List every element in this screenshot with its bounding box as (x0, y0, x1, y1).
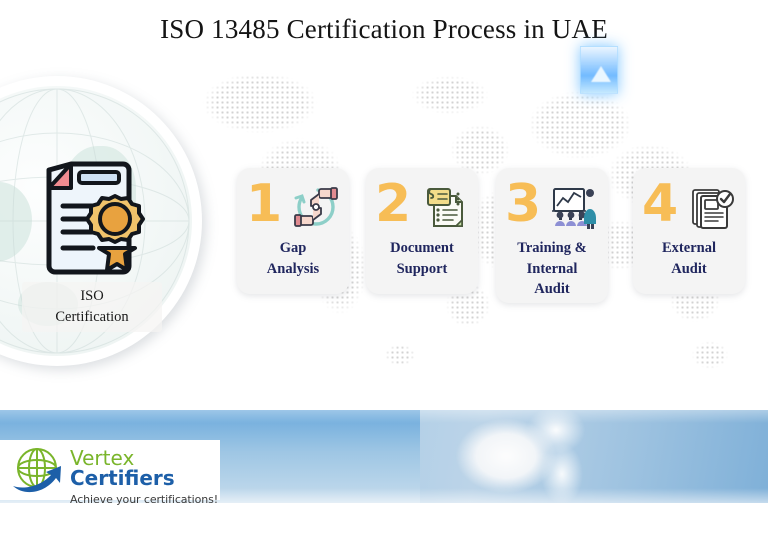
process-step-card-4[interactable]: 4 External Audit (633, 168, 745, 294)
logo-text-block: Vertex Certifiers Achieve your certifica… (70, 448, 220, 506)
step-4-head: 4 (633, 178, 745, 236)
iso-label-line2: Certification (55, 307, 128, 328)
step-2-head: 2 (366, 178, 478, 236)
documents-check-icon (689, 184, 735, 230)
logo-tagline: Achieve your certifications! (70, 493, 220, 506)
page-title: ISO 13485 Certification Process in UAE (0, 14, 768, 45)
certificate-seal-icon (27, 148, 149, 276)
step-3-label: Training & Internal Audit (496, 238, 608, 300)
handshake-circle-icon (293, 184, 339, 230)
step-4-label-line1: External (633, 238, 745, 259)
process-step-card-1[interactable]: 1 Gap Analysis (237, 168, 349, 294)
logo-brand-line: Vertex Certifiers (70, 448, 220, 488)
iso-certification-label: ISO Certification (22, 282, 162, 332)
training-presentation-icon (550, 184, 596, 230)
step-1-label-line2: Analysis (237, 259, 349, 280)
step-1-head: 1 (237, 178, 349, 236)
process-step-card-3[interactable]: 3 (496, 168, 608, 303)
step-3-label-line3: Audit (496, 279, 608, 300)
step-2-label-line2: Support (366, 259, 478, 280)
glowing-arrow-icon (591, 66, 611, 82)
step-4-label-line2: Audit (633, 259, 745, 280)
step-4-number: 4 (642, 178, 678, 230)
document-clipboard-icon (422, 184, 468, 230)
iso-label-line1: ISO (80, 286, 103, 307)
step-3-label-line1: Training & (496, 238, 608, 259)
step-3-label-line2: Internal (496, 259, 608, 280)
process-step-card-2[interactable]: 2 Document (366, 168, 478, 294)
step-2-number: 2 (375, 178, 411, 230)
step-3-number: 3 (505, 178, 541, 230)
logo-brand-second: Certifiers (70, 466, 175, 490)
infographic-canvas: ISO 13485 Certification Process in UAE (0, 0, 768, 543)
step-3-head: 3 (496, 178, 608, 236)
step-1-number: 1 (246, 178, 282, 230)
step-4-label: External Audit (633, 238, 745, 279)
gloved-hand-photo (430, 410, 680, 503)
step-2-label: Document Support (366, 238, 478, 279)
step-1-label-line1: Gap (237, 238, 349, 259)
step-2-label-line1: Document (366, 238, 478, 259)
globe-arrow-logo-icon (10, 446, 68, 494)
company-logo[interactable]: Vertex Certifiers Achieve your certifica… (0, 440, 220, 500)
step-1-label: Gap Analysis (237, 238, 349, 279)
